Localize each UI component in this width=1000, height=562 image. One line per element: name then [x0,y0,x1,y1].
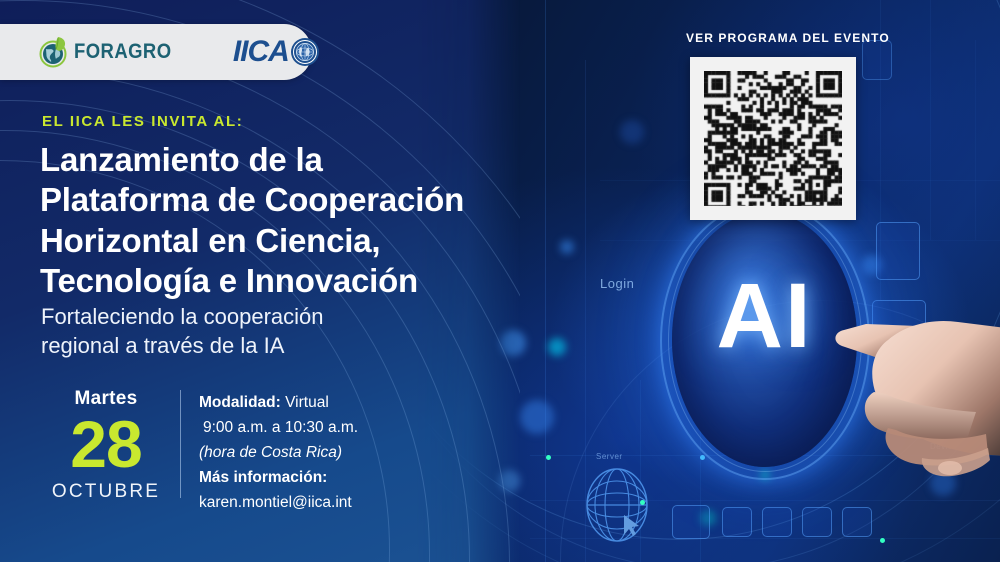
logo-bar: FORAGRO IICA [0,24,312,80]
more-info-label: Más información: [199,465,459,490]
wireframe-globe-icon [578,465,656,545]
event-timezone: (hora de Costa Rica) [199,440,459,465]
event-poster: Devices Server Login AI [0,0,1000,562]
modality-line: Modalidad: Virtual [199,390,459,415]
qr-canvas[interactable] [704,71,842,206]
foragro-wordmark: FORAGRO [74,40,172,64]
modality-value: Virtual [285,394,329,411]
vertical-divider [180,390,181,498]
headline-line: Lanzamiento de la [40,140,510,180]
event-time: 9:00 a.m. a 10:30 a.m. [199,415,459,440]
headline-line: Tecnología e Innovación [40,261,510,301]
event-date: Martes 28 OCTUBRE [36,388,176,503]
iica-logo: IICA [233,35,320,69]
qr-code-icon[interactable] [690,57,856,220]
date-day-number: 28 [36,412,176,477]
subtitle: Fortaleciendo la cooperación regional a … [41,303,461,360]
headline-line: Plataforma de Cooperación [40,180,510,220]
modality-label: Modalidad: [199,394,281,411]
iica-seal-icon [290,37,320,67]
subtitle-line: regional a través de la IA [41,332,461,361]
iica-wordmark: IICA [233,35,289,69]
pointing-hand-icon [826,288,1000,503]
qr-title: VER PROGRAMA DEL EVENTO [686,31,890,45]
eyebrow-text: EL IICA LES INVITA AL: [42,113,243,130]
login-label: Login [600,276,634,291]
headline-line: Horizontal en Ciencia, [40,221,510,261]
page-title: Lanzamiento de la Plataforma de Cooperac… [40,140,510,301]
foragro-logo: FORAGRO [38,35,185,69]
date-month: OCTUBRE [36,481,176,503]
subtitle-line: Fortaleciendo la cooperación [41,303,461,332]
contact-email[interactable]: karen.montiel@iica.int [199,490,459,515]
event-details: Modalidad: Virtual 9:00 a.m. a 10:30 a.m… [199,390,459,516]
globe-leaf-icon [38,35,72,69]
server-label: Server [596,452,623,461]
